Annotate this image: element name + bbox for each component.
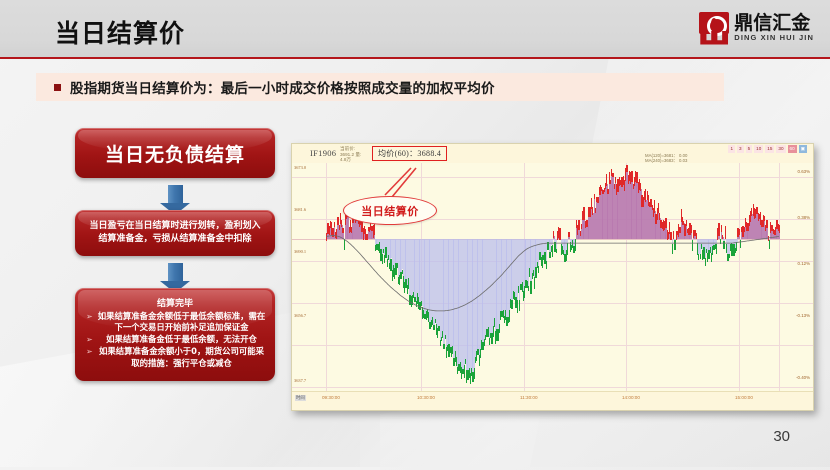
list-item: ➢ 如果结算准备金余额小于0，期货公司可能采取的措施：强行平仓或减仓 — [84, 346, 266, 369]
x-axis-tag: 时间 — [295, 395, 306, 401]
x-tick-1: 10:30:00 — [417, 395, 435, 400]
chart-stat-readout: MA(120)=3681： 0.00 MA(240)=3683： 0.03 — [645, 153, 805, 163]
arrow-bullet-icon: ➢ — [86, 311, 93, 322]
list-item: ➢ 如果结算准备金低于最低余额，无法开仓 — [84, 334, 266, 345]
period-60-selected[interactable]: 60 — [788, 145, 797, 153]
flow-box-settlement-title: 当日无负债结算 — [75, 128, 275, 178]
x-tick-0: 09:30:00 — [322, 395, 340, 400]
contract-symbol: IF1906 — [310, 148, 336, 158]
period-3[interactable]: 3 — [737, 145, 744, 153]
company-logo: 鼎信汇金 DING XIN HUI JIN — [699, 8, 814, 48]
list-item-text: 如果结算准备金低于最低余额，无法开仓 — [106, 334, 257, 344]
period-15[interactable]: 15 — [765, 145, 774, 153]
intraday-chart-panel[interactable]: IF1906 当前价: 3691.2 量: 4.8万 均价(60)：3688.4… — [291, 143, 814, 411]
x-tick-4: 15:00:00 — [735, 395, 753, 400]
chart-series-svg — [292, 163, 813, 391]
x-tick-2: 11:30:00 — [520, 395, 538, 400]
list-item-text: 如果结算准备金余额小于0，期货公司可能采取的措施：强行平仓或减仓 — [99, 346, 264, 367]
bullet-square-icon — [54, 84, 61, 91]
page-number: 30 — [773, 428, 790, 445]
x-axis: 时间 09:30:00 10:30:00 11:30:00 14:00:00 1… — [292, 391, 813, 410]
page-title: 当日结算价 — [55, 14, 185, 50]
flow-box-1-text: 当日无负债结算 — [105, 140, 245, 167]
header-accent-rule — [0, 57, 830, 59]
flow-box-settlement-complete: 结算完毕 ➢ 如果结算准备金余额低于最低余额标准，需在下一个交易日开始前补足追加… — [75, 288, 275, 381]
down-arrow-2-icon — [75, 256, 275, 288]
chart-plot-area[interactable] — [292, 163, 813, 391]
flow-diagram: 当日无负债结算 当日盈亏在当日结算时进行划转，盈利划入结算准备金，亏损从结算准备… — [75, 128, 275, 381]
list-item-text: 如果结算准备金余额低于最低余额标准，需在下一个交易日开始前补足追加保证金 — [98, 311, 266, 332]
moving-average-line — [326, 236, 779, 311]
period-1[interactable]: 1 — [728, 145, 735, 153]
list-item: ➢ 如果结算准备金余额低于最低余额标准，需在下一个交易日开始前补足追加保证金 — [84, 311, 266, 334]
period-selector[interactable]: 1 3 5 10 15 30 60 ▣ — [728, 145, 807, 153]
subtitle-text: 股指期货当日结算价为：最后一小时成交价格按照成交量的加权平均价 — [70, 77, 495, 97]
period-30[interactable]: 30 — [776, 145, 785, 153]
period-5[interactable]: 5 — [746, 145, 753, 153]
period-10[interactable]: 10 — [754, 145, 763, 153]
contract-meta: 当前价: 3691.2 量: 4.8万 — [340, 146, 368, 163]
flow-box-3-bullet-list: ➢ 如果结算准备金余额低于最低余额标准，需在下一个交易日开始前补足追加保证金 ➢… — [84, 311, 266, 369]
chart-toolbar[interactable]: IF1906 当前价: 3691.2 量: 4.8万 均价(60)：3688.4… — [292, 144, 813, 164]
chart-settings-icon[interactable]: ▣ — [799, 145, 807, 153]
flow-box-3-heading: 结算完毕 — [84, 296, 266, 309]
flow-box-2-text: 当日盈亏在当日结算时进行划转，盈利划入结算准备金，亏损从结算准备金中扣除 — [87, 220, 263, 246]
down-arrow-1-icon — [75, 178, 275, 210]
arrow-bullet-icon: ➢ — [86, 334, 93, 345]
flow-box-profit-transfer: 当日盈亏在当日结算时进行划转，盈利划入结算准备金，亏损从结算准备金中扣除 — [75, 210, 275, 256]
logo-name-cn: 鼎信汇金 — [734, 13, 814, 33]
logo-name-en: DING XIN HUI JIN — [734, 33, 814, 43]
ma-value-badge: 均价(60)：3688.4 — [372, 146, 447, 161]
logo-mark-icon — [699, 12, 729, 45]
x-tick-3: 14:00:00 — [622, 395, 640, 400]
subtitle-band: 股指期货当日结算价为：最后一小时成交价格按照成交量的加权平均价 — [36, 73, 724, 101]
arrow-bullet-icon: ➢ — [86, 346, 93, 357]
